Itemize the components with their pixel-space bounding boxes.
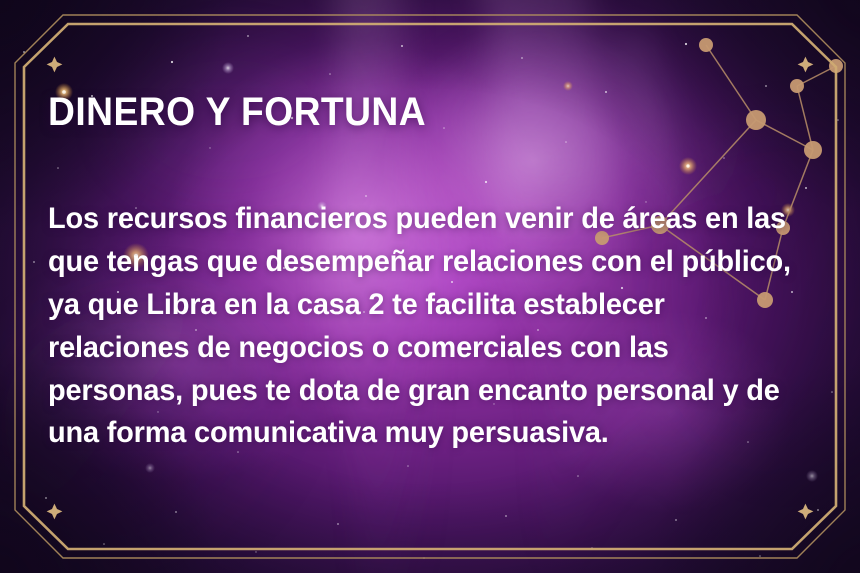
horoscope-card: DINERO Y FORTUNA Los recursos financiero… bbox=[0, 0, 860, 573]
body-paragraph: Los recursos financieros pueden venir de… bbox=[48, 132, 810, 455]
page-title: DINERO Y FORTUNA bbox=[48, 92, 772, 132]
card-content: DINERO Y FORTUNA Los recursos financiero… bbox=[48, 92, 826, 455]
